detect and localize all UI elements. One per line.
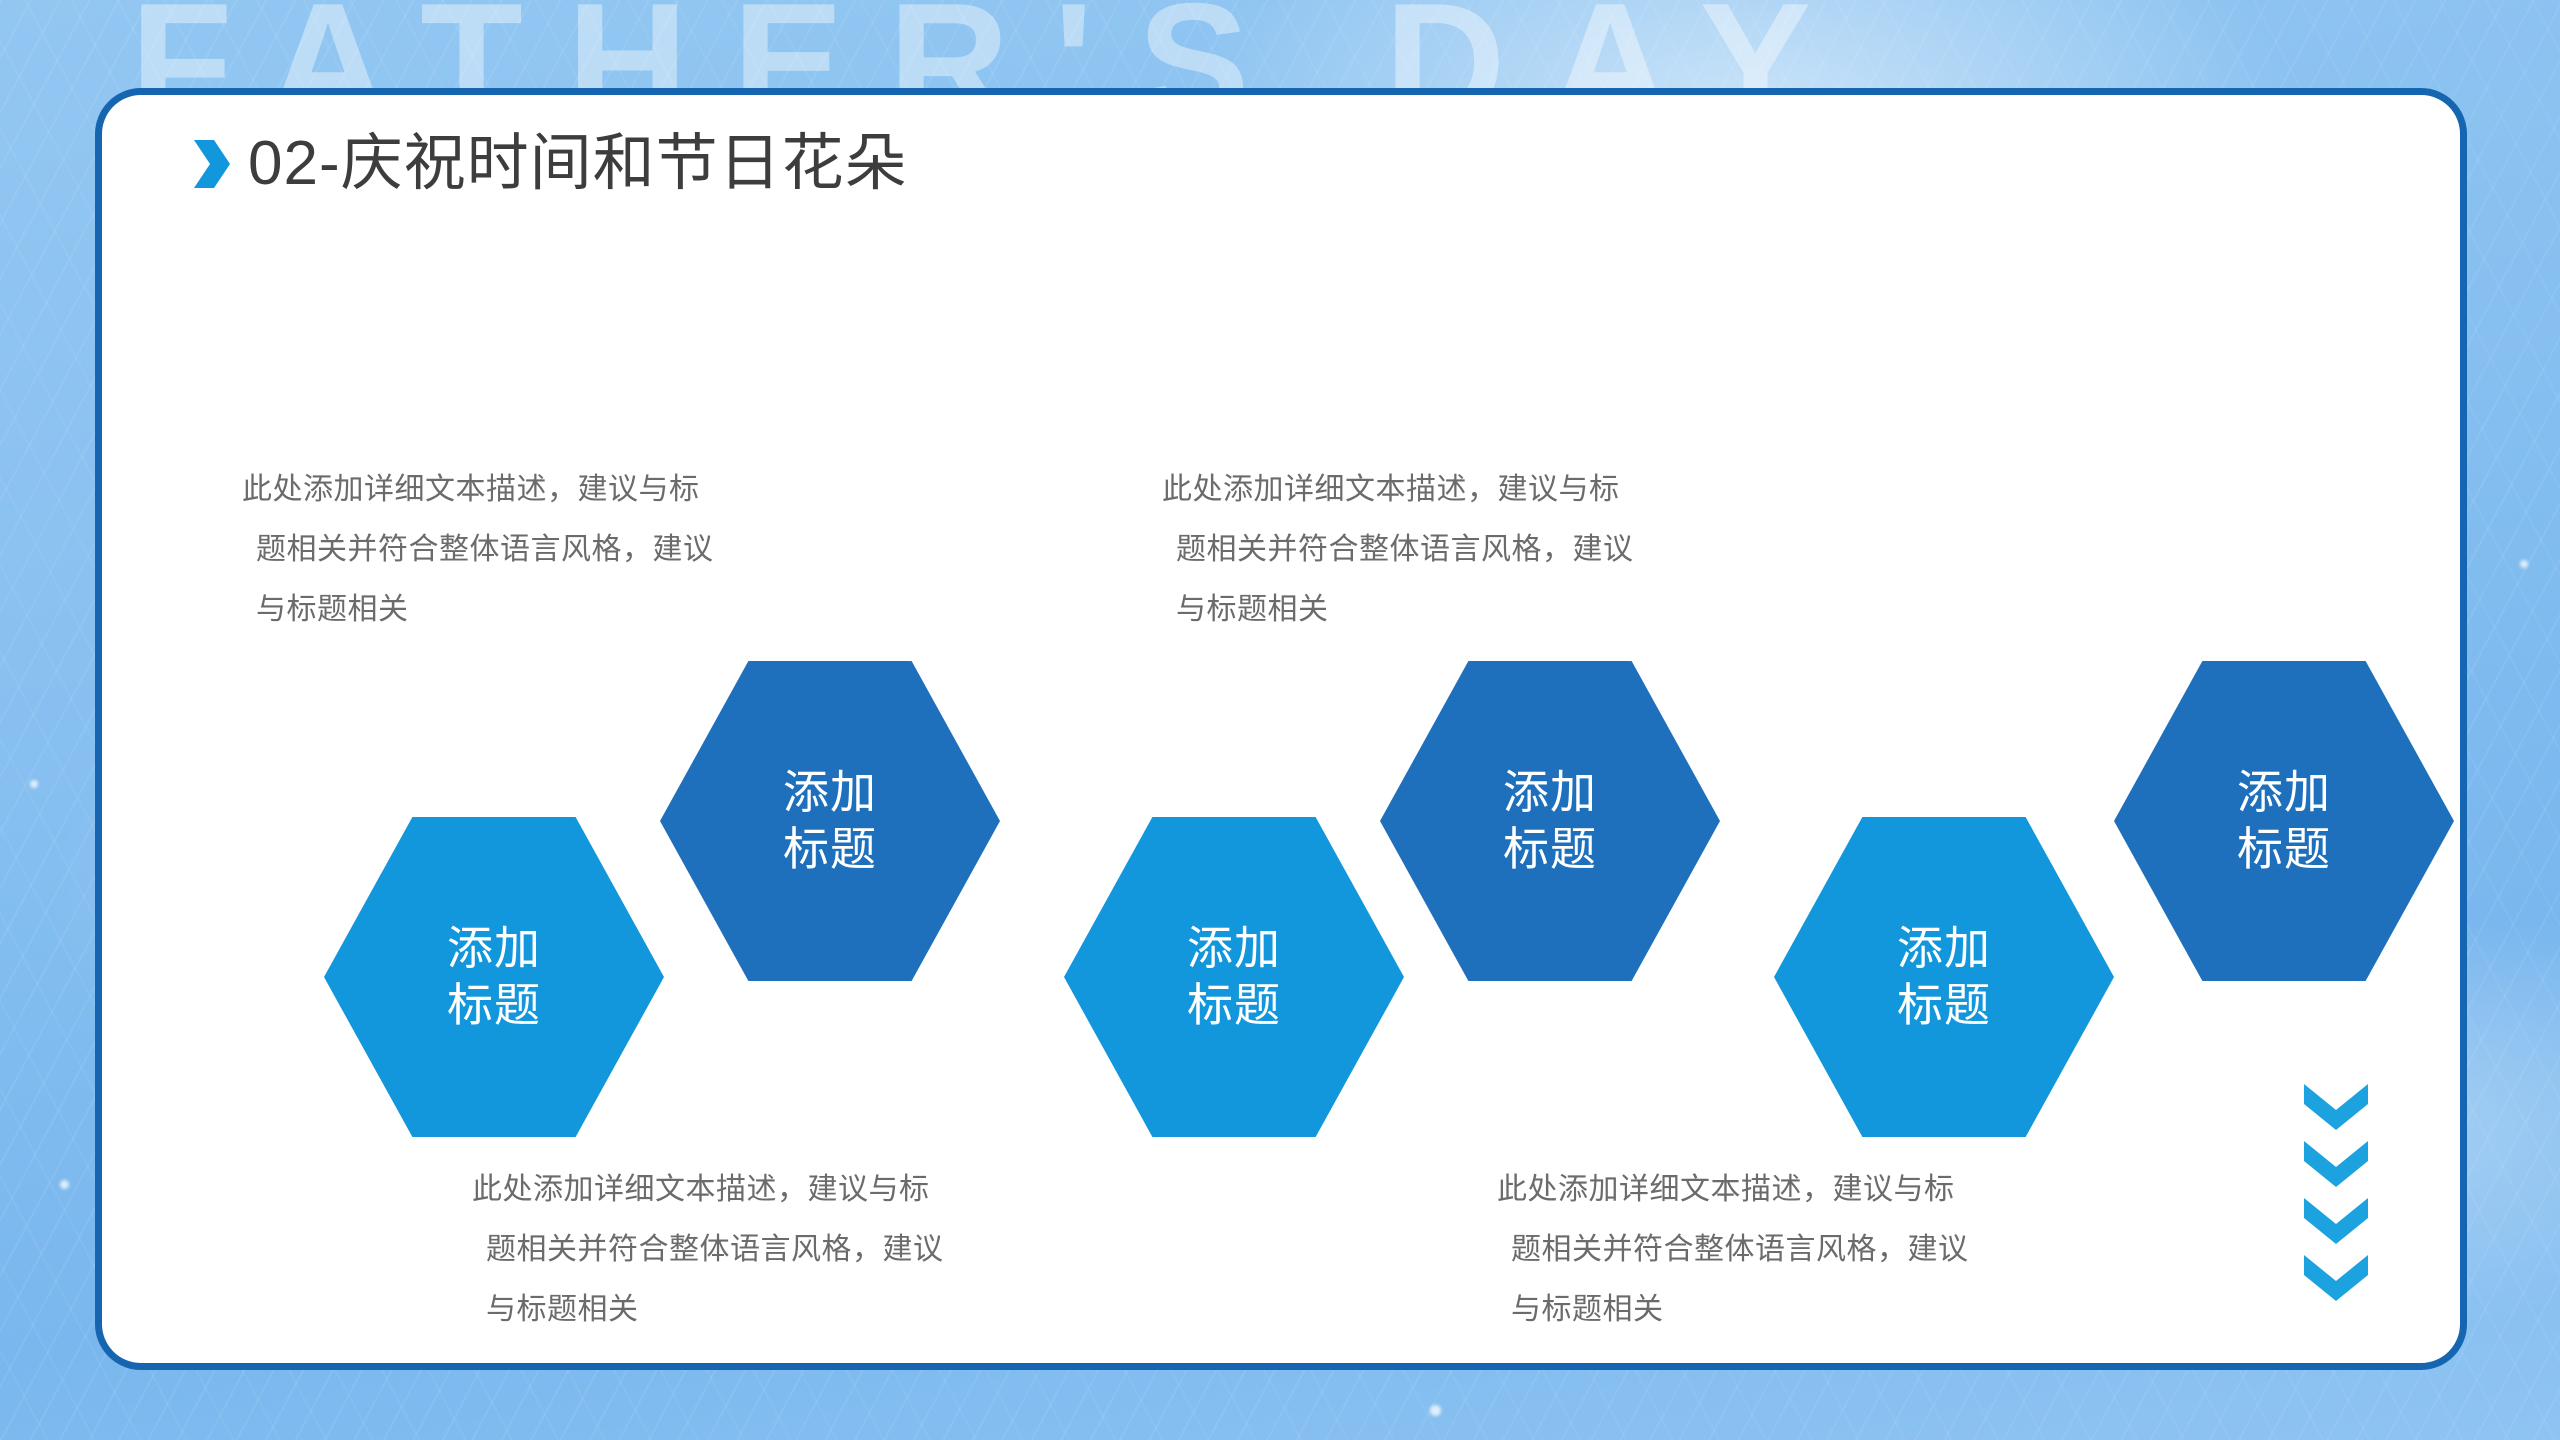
description-line: 与标题相关: [1497, 1280, 2137, 1340]
chevron-down-icon: [2304, 1084, 2368, 1130]
description-line: 此处添加详细文本描述，建议与标: [242, 460, 882, 520]
page-title: 02-庆祝时间和节日花朵: [248, 133, 908, 195]
chevron-right-icon: [192, 136, 232, 192]
description-line: 与标题相关: [242, 580, 882, 640]
description-line: 题相关并符合整体语言风格，建议: [1162, 520, 1802, 580]
sparkle-dot: [60, 1180, 69, 1189]
description-line: 题相关并符合整体语言风格，建议: [472, 1220, 1112, 1280]
description-bottom-right: 此处添加详细文本描述，建议与标 题相关并符合整体语言风格，建议 与标题相关: [1497, 1160, 2137, 1340]
chevron-decoration-stack: [2304, 1084, 2368, 1301]
hexagon-label: 添加 标题: [447, 920, 541, 1034]
hexagon-item-3[interactable]: 添加 标题: [1064, 817, 1404, 1137]
hexagon-label: 添加 标题: [1897, 920, 1991, 1034]
page-title-row: 02-庆祝时间和节日花朵: [192, 133, 908, 195]
sparkle-dot: [30, 780, 38, 788]
description-line: 与标题相关: [472, 1280, 1112, 1340]
sparkle-dot: [1430, 1405, 1441, 1416]
chevron-down-icon: [2304, 1198, 2368, 1244]
description-line: 此处添加详细文本描述，建议与标: [1497, 1160, 2137, 1220]
chevron-down-icon: [2304, 1141, 2368, 1187]
slide-canvas: FATHER'S DAY 02-庆祝时间和节日花朵 此处添加详细文本描述，建议与…: [0, 0, 2560, 1440]
hexagon-item-2[interactable]: 添加 标题: [660, 661, 1000, 981]
description-line: 此处添加详细文本描述，建议与标: [472, 1160, 1112, 1220]
hexagon-label: 添加 标题: [783, 764, 877, 878]
content-card: 02-庆祝时间和节日花朵 此处添加详细文本描述，建议与标 题相关并符合整体语言风…: [95, 88, 2467, 1370]
hexagon-item-5[interactable]: 添加 标题: [1774, 817, 2114, 1137]
hexagon-item-6[interactable]: 添加 标题: [2114, 661, 2454, 981]
chevron-down-icon: [2304, 1255, 2368, 1301]
description-line: 与标题相关: [1162, 580, 1802, 640]
description-top-right: 此处添加详细文本描述，建议与标 题相关并符合整体语言风格，建议 与标题相关: [1162, 460, 1802, 640]
hexagon-label: 添加 标题: [1187, 920, 1281, 1034]
description-bottom-left: 此处添加详细文本描述，建议与标 题相关并符合整体语言风格，建议 与标题相关: [472, 1160, 1112, 1340]
description-line: 题相关并符合整体语言风格，建议: [242, 520, 882, 580]
sparkle-dot: [2520, 560, 2528, 568]
description-line: 此处添加详细文本描述，建议与标: [1162, 460, 1802, 520]
hexagon-label: 添加 标题: [2237, 764, 2331, 878]
hexagon-item-1[interactable]: 添加 标题: [324, 817, 664, 1137]
description-line: 题相关并符合整体语言风格，建议: [1497, 1220, 2137, 1280]
hexagon-label: 添加 标题: [1503, 764, 1597, 878]
description-top-left: 此处添加详细文本描述，建议与标 题相关并符合整体语言风格，建议 与标题相关: [242, 460, 882, 640]
hexagon-item-4[interactable]: 添加 标题: [1380, 661, 1720, 981]
